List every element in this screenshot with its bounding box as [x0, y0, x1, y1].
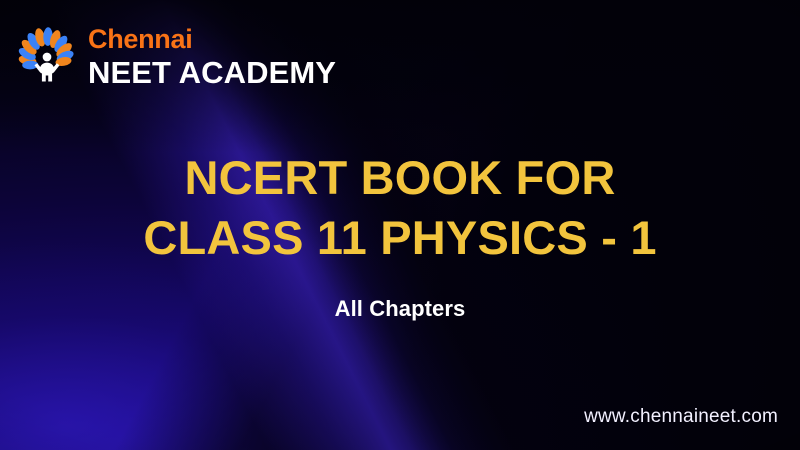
- brand-logo[interactable]: Chennai NEET ACADEMY: [16, 26, 336, 88]
- hero-content: NCERT BOOK FOR CLASS 11 PHYSICS - 1 All …: [0, 148, 800, 322]
- brand-wordmark: Chennai NEET ACADEMY: [88, 26, 336, 88]
- website-url[interactable]: www.chennaineet.com: [584, 406, 778, 428]
- title-line-1: NCERT BOOK FOR: [0, 148, 800, 208]
- tree-person-logo-icon: [16, 26, 78, 88]
- page-subtitle: All Chapters: [0, 296, 800, 322]
- promo-banner: Chennai NEET ACADEMY NCERT BOOK FOR CLAS…: [0, 0, 800, 450]
- page-title: NCERT BOOK FOR CLASS 11 PHYSICS - 1: [0, 148, 800, 268]
- title-line-2: CLASS 11 PHYSICS - 1: [0, 208, 800, 268]
- brand-name-top: Chennai: [88, 26, 336, 53]
- brand-name-bottom: NEET ACADEMY: [88, 57, 336, 88]
